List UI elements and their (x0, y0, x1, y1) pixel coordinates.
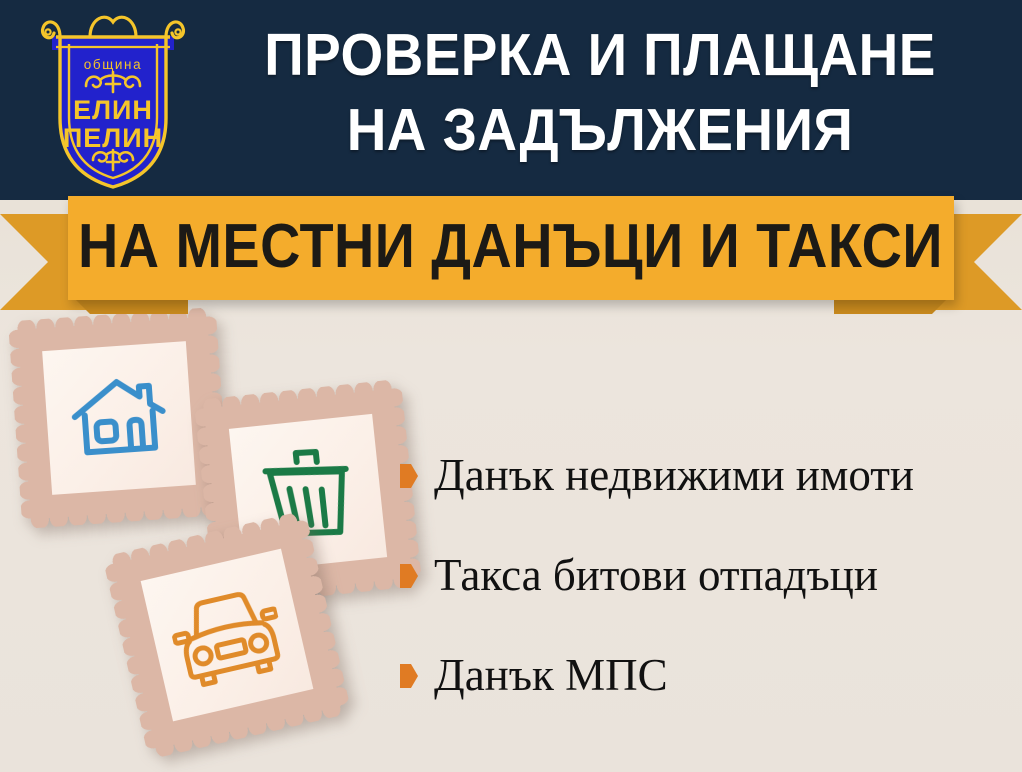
coat-of-arms-icon: община ЕЛИН ПЕЛИН (38, 6, 188, 192)
poster-canvas: община ЕЛИН ПЕЛИН (0, 0, 1022, 772)
logo-word-elin: ЕЛИН (73, 95, 153, 125)
list-item-label: Данък недвижими имоти (434, 451, 914, 499)
logo-word-obshtina: община (84, 57, 142, 72)
header-bar: община ЕЛИН ПЕЛИН (0, 0, 1022, 200)
stamp-face (42, 341, 196, 495)
stamp-face (141, 549, 314, 722)
list-item-label: Данък МПС (434, 651, 668, 699)
list-item[interactable]: Данък недвижими имоти (400, 425, 1010, 525)
bullet-arrow-icon (400, 464, 418, 488)
stamp-card-property-tax (18, 317, 221, 520)
poster-title: ПРОВЕРКА И ПЛАЩАНЕ НА ЗАДЪЛЖЕНИЯ (219, 18, 982, 168)
tax-types-list: Данък недвижими имоти Такса битови отпад… (400, 425, 1010, 725)
ribbon-label: НА МЕСТНИ ДАНЪЦИ И ТАКСИ (79, 216, 944, 281)
title-line-1: ПРОВЕРКА И ПЛАЩАНЕ (219, 18, 982, 93)
bullet-arrow-icon (400, 664, 418, 688)
list-item[interactable]: Такса битови отпадъци (400, 525, 1010, 625)
house-icon (63, 362, 174, 473)
logo-word-pelin: ПЕЛИН (63, 123, 163, 153)
stamp-edge-left (9, 329, 38, 520)
list-item-label: Такса битови отпадъци (434, 551, 878, 599)
title-line-2: НА ЗАДЪЛЖЕНИЯ (219, 93, 982, 168)
subtitle-ribbon: НА МЕСТНИ ДАНЪЦИ И ТАКСИ (0, 196, 1022, 316)
ribbon-band: НА МЕСТНИ ДАНЪЦИ И ТАКСИ (68, 196, 954, 300)
car-front-icon (164, 576, 291, 694)
list-item[interactable]: Данък МПС (400, 625, 1010, 725)
stamp-card-vehicle-tax (113, 521, 341, 749)
municipality-logo: община ЕЛИН ПЕЛИН (38, 6, 188, 192)
bullet-arrow-icon (400, 564, 418, 588)
